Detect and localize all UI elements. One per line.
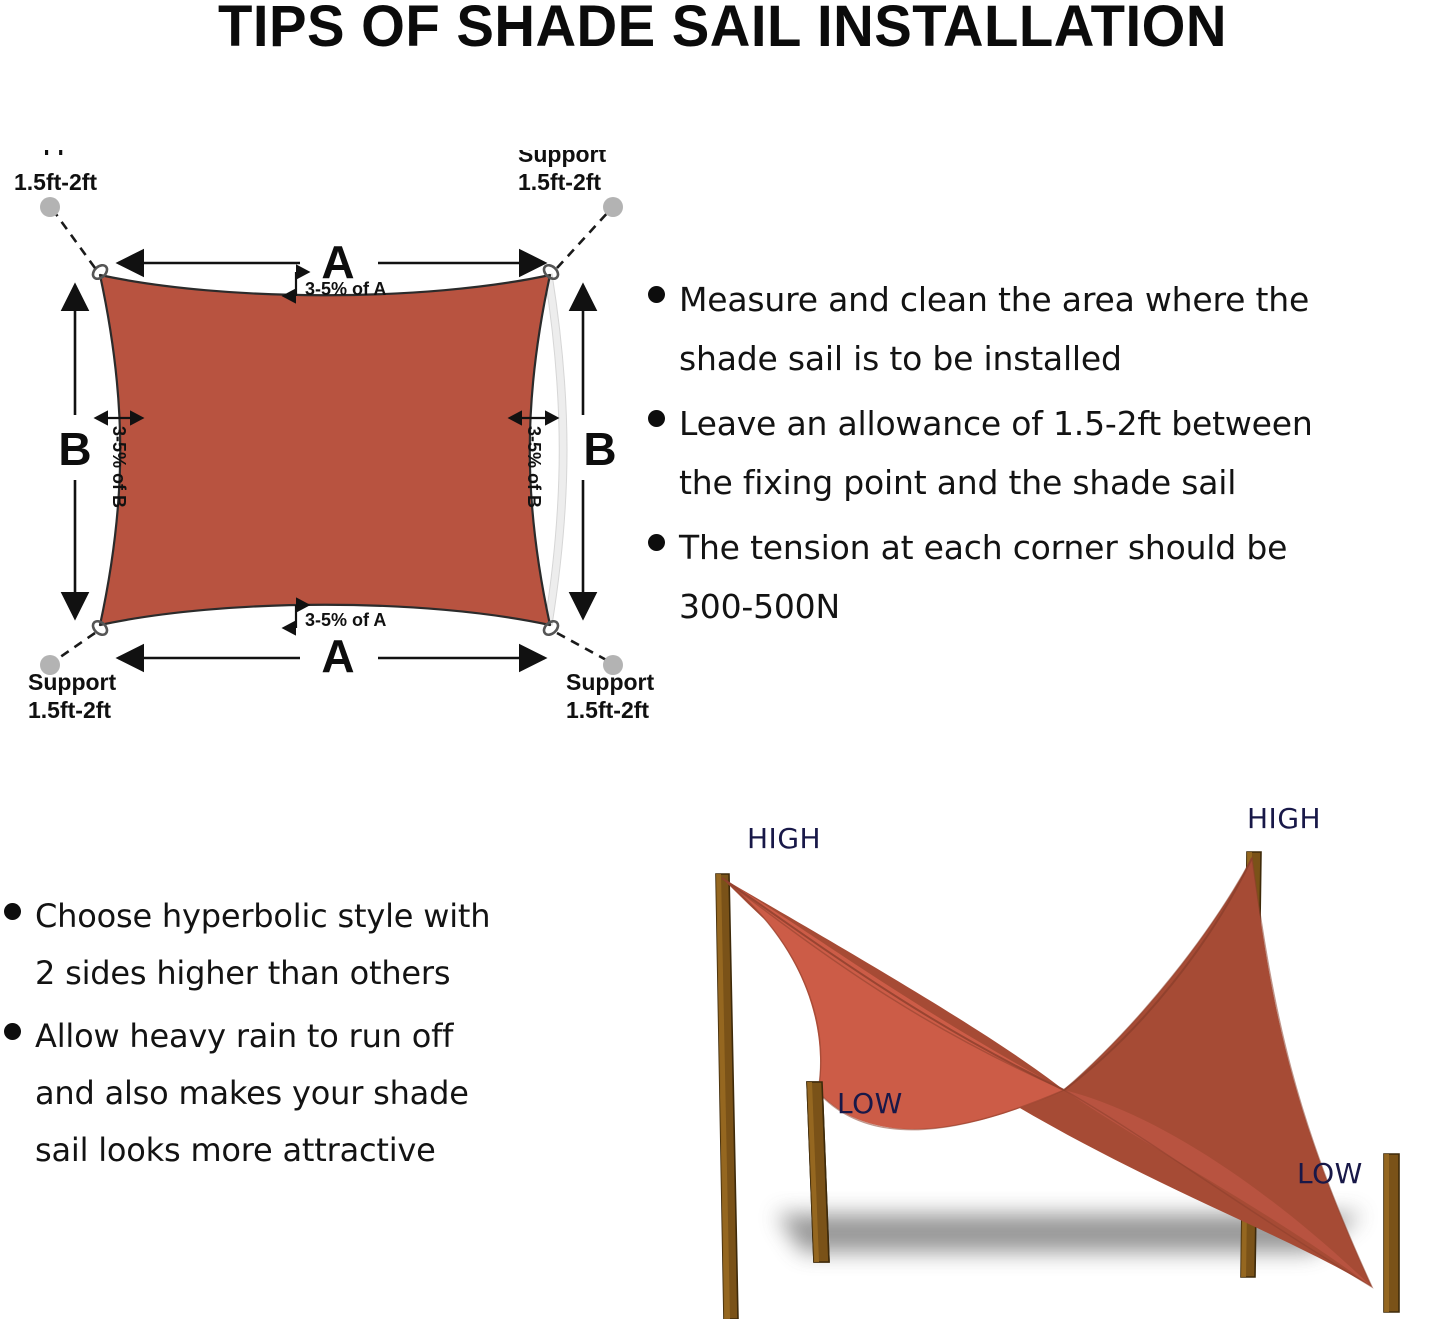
support-label-bottom-right-line2: 1.5ft-2ft [566,697,649,723]
dimension-b-left-label: B [58,423,91,475]
sail-edge-binding [545,274,567,625]
list-item-label: Allow heavy rain to run off and also mak… [35,1008,469,1179]
tether-line [557,633,610,662]
bullet-dot-icon [648,534,665,551]
post-label-high-right: HIGH [1247,802,1321,835]
list-item: Allow heavy rain to run off and also mak… [4,1008,629,1179]
hyperbolic-sail-illustration: HIGH HIGH LOW LOW [672,782,1445,1319]
list-item-label: Choose hyperbolic style with 2 sides hig… [35,888,490,1002]
list-item-label: The tension at each corner should be 300… [679,518,1287,636]
support-label-bottom-right-line1: Support [566,669,654,695]
curve-callout-bottom: 3-5% of A [305,610,386,630]
post-label-low-right: LOW [1297,1157,1363,1190]
tether-line [557,210,610,268]
support-dot-icon [603,197,623,217]
curve-callout-top: 3-5% of A [305,279,386,299]
support-label-top-left-line1: Support [14,150,102,155]
installation-tips-lower-list: Choose hyperbolic style with 2 sides hig… [4,888,629,1185]
support-label-top-right-line1: Support [518,150,606,167]
post-label-low-left: LOW [837,1087,903,1120]
post-low-right [1384,1154,1399,1312]
list-item: Choose hyperbolic style with 2 sides hig… [4,888,629,1002]
post-label-high-left: HIGH [747,822,821,855]
shade-sail-shape [100,275,550,625]
list-item: Leave an allowance of 1.5-2ft between th… [648,394,1445,512]
curve-callout-right: 3-5% of B [524,426,544,508]
bullet-dot-icon [4,903,21,920]
rectangular-sail-diagram: A A B B 3-5% of A 3-5% of A 3-5% of B 3-… [0,150,680,730]
tether-line [53,633,95,662]
list-item-label: Measure and clean the area where the sha… [679,270,1309,388]
installation-tips-upper-list: Measure and clean the area where the sha… [648,270,1445,642]
page-title: TIPS OF SHADE SAIL INSTALLATION [22,0,1424,58]
dimension-b-right-label: B [583,423,616,475]
list-item: The tension at each corner should be 300… [648,518,1445,636]
bullet-dot-icon [4,1023,21,1040]
curve-callout-left: 3-5% of B [109,426,129,508]
support-label-bottom-left-line2: 1.5ft-2ft [28,697,111,723]
support-label-bottom-left-line1: Support [28,669,116,695]
list-item-label: Leave an allowance of 1.5-2ft between th… [679,394,1313,512]
bullet-dot-icon [648,286,665,303]
list-item: Measure and clean the area where the sha… [648,270,1445,388]
tether-line [53,210,95,268]
support-dot-icon [40,197,60,217]
support-label-top-right-line2: 1.5ft-2ft [518,169,601,195]
post-high-left [716,874,738,1319]
support-label-top-left-line2: 1.5ft-2ft [14,169,97,195]
dimension-a-bottom-label: A [321,630,354,682]
bullet-dot-icon [648,410,665,427]
